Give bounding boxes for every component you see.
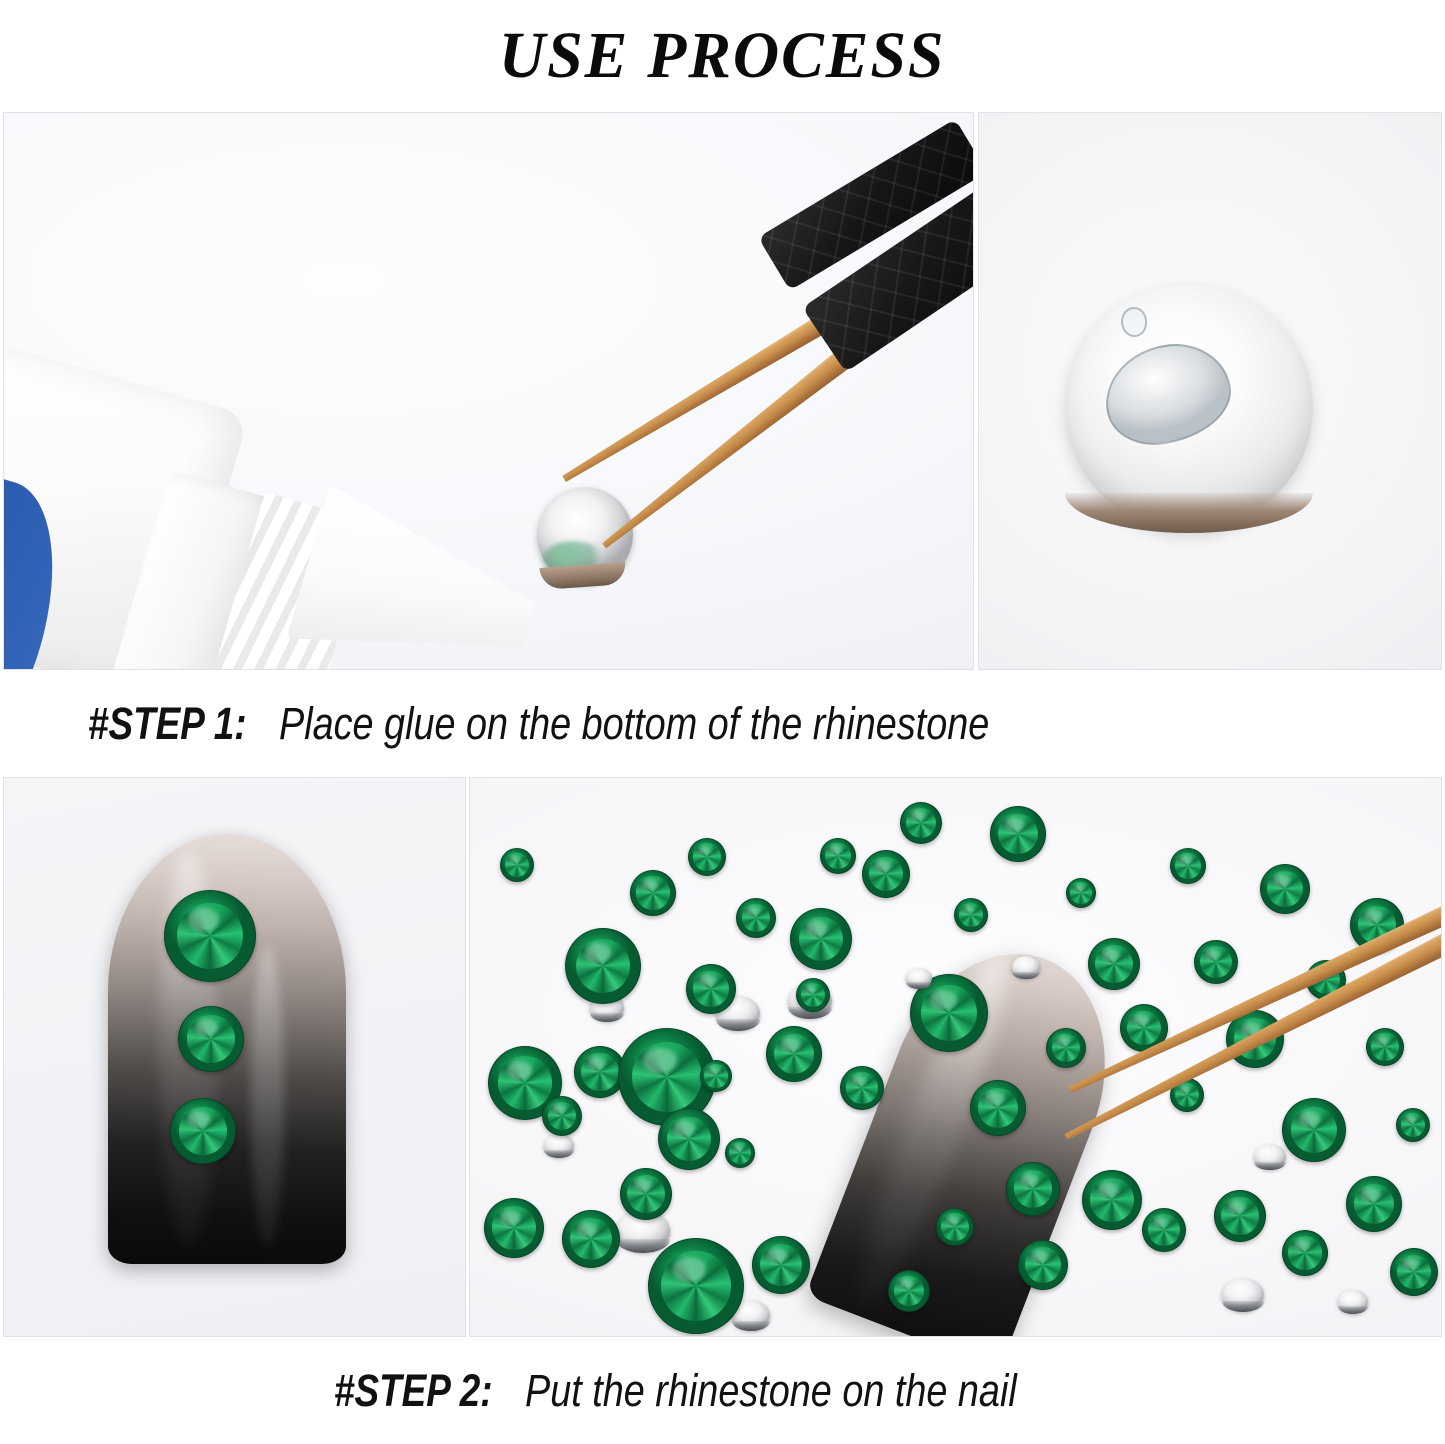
rhinestone-green (484, 1198, 544, 1258)
nail-rhinestone-3 (170, 1098, 236, 1164)
glue-blob (1099, 337, 1237, 452)
rhinestone-green (700, 1060, 732, 1092)
rhinestone-green (565, 928, 641, 1004)
rhinestone-on-nail-2 (970, 1080, 1026, 1136)
nail-gloss-highlight (251, 946, 284, 1247)
rhinestone-green (658, 1108, 720, 1170)
rhinestone-green (736, 898, 776, 938)
rhinestone-foil-back-closeup (1065, 283, 1313, 531)
nail-rhinestone-2 (178, 1006, 244, 1072)
rhinestone-green (1082, 1170, 1142, 1230)
step-1-label: #STEP 1: (88, 698, 247, 750)
page-title: USE PROCESS (499, 23, 946, 89)
step-1-caption: #STEP 1: Place glue on the bottom of the… (0, 670, 1445, 777)
rhinestone-green (900, 802, 942, 844)
rhinestone-green (888, 1270, 930, 1312)
title-bar: USE PROCESS (0, 0, 1445, 112)
rhinestone-green (725, 1138, 755, 1168)
rhinestone-foil-back (1338, 1290, 1368, 1313)
rhinestone-green (936, 1208, 974, 1246)
rhinestone-green (840, 1066, 884, 1110)
rhinestone-green (1194, 940, 1238, 984)
rhinestone-foil-back (906, 968, 932, 988)
rhinestone-foil-back (539, 562, 626, 590)
rhinestone-foil-back (544, 1134, 574, 1157)
rhinestone-green (686, 964, 736, 1014)
rhinestone-green (990, 806, 1046, 862)
rhinestone-green (1214, 1190, 1266, 1242)
rhinestone-green (1282, 1098, 1346, 1162)
step-2-caption: #STEP 2: Put the rhinestone on the nail (0, 1337, 1445, 1444)
rhinestone-green (1390, 1248, 1438, 1296)
step-1-text: Place glue on the bottom of the rhinesto… (279, 698, 989, 750)
glue-droplet (1121, 307, 1147, 337)
rhinestone-green (1260, 864, 1310, 914)
rhinestone-scatter-photo (469, 777, 1442, 1337)
glue-bottle-tweezers-photo (3, 112, 974, 670)
rhinestone-green (1046, 1028, 1086, 1068)
rhinestone-green (1396, 1108, 1430, 1142)
step-2-image-row (3, 777, 1442, 1337)
rhinestone-green (1346, 1176, 1402, 1232)
step-2-text: Put the rhinestone on the nail (525, 1365, 1017, 1417)
rhinestone-green (1170, 848, 1206, 884)
rhinestone-green (562, 1210, 620, 1268)
rhinestone-green (766, 1026, 822, 1082)
rhinestone-green (620, 1168, 672, 1220)
rhinestone-green (954, 898, 988, 932)
rhinestone-foil-back (1254, 1144, 1286, 1169)
rhinestone-green (1066, 878, 1096, 908)
rhinestone-green (796, 978, 830, 1012)
rhinestone-green (542, 1096, 582, 1136)
rhinestone-green (688, 838, 726, 876)
rhinestone-green (500, 848, 534, 882)
rhinestone-green (752, 1236, 810, 1294)
glue-closeup-photo (978, 112, 1442, 670)
rhinestone-foil-back (1012, 956, 1040, 978)
rhinestone-green (1282, 1230, 1328, 1276)
rhinestone-foil-back (1222, 1278, 1264, 1311)
rhinestone-green (648, 1238, 744, 1334)
rhinestone-green (790, 908, 852, 970)
rhinestone-green (630, 870, 676, 916)
rhinestone-green (1366, 1028, 1404, 1066)
nail-rhinestone-1 (164, 890, 256, 982)
rhinestone-green (1142, 1208, 1186, 1252)
rhinestone-on-nail-3 (1006, 1162, 1060, 1216)
rhinestone-green (1088, 938, 1140, 990)
rhinestone-green (1018, 1240, 1068, 1290)
finished-nail-photo (3, 777, 466, 1337)
step-2-label: #STEP 2: (334, 1365, 493, 1417)
rhinestone-green (820, 838, 856, 874)
rhinestone-green (862, 850, 910, 898)
step-1-image-row (3, 112, 1442, 670)
